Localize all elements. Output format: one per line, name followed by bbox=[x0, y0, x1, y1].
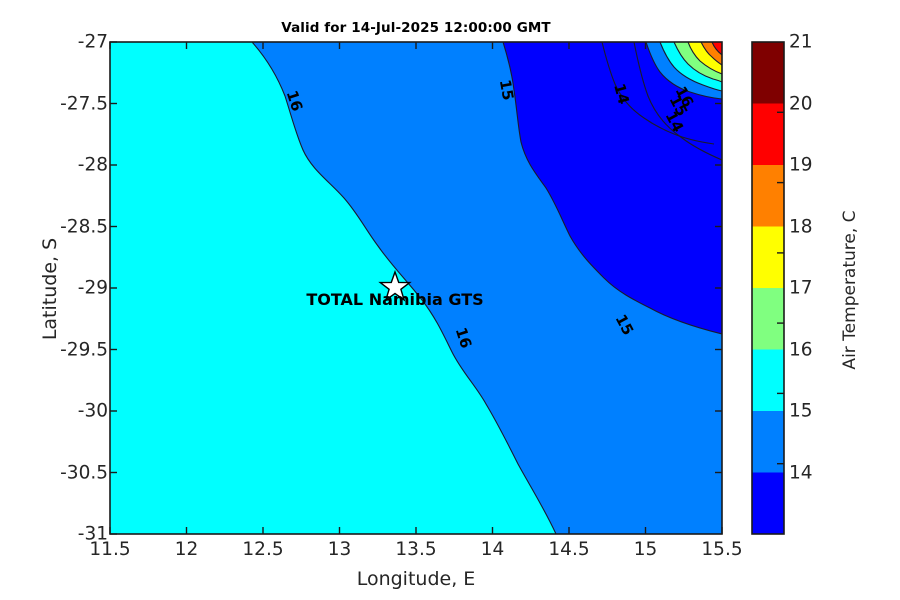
x-tick-label: 14.5 bbox=[548, 539, 589, 560]
x-tick-label: 15.5 bbox=[701, 539, 742, 560]
colorbar-swatch bbox=[752, 42, 784, 104]
y-tick-label: -31 bbox=[78, 524, 108, 545]
colorbar-tick-label: 15 bbox=[789, 401, 813, 422]
contour-fill-group bbox=[110, 42, 722, 534]
colorbar-tick-label: 16 bbox=[789, 339, 813, 360]
station-label: TOTAL Namibia GTS bbox=[306, 290, 483, 309]
colorbar-tick-label: 19 bbox=[789, 155, 813, 176]
y-tick-label: -29 bbox=[78, 278, 108, 299]
colorbar-tick-label: 17 bbox=[789, 278, 813, 299]
y-tick-label: -30 bbox=[78, 401, 108, 422]
x-tick-label: 15 bbox=[634, 539, 658, 560]
colorbar-swatch bbox=[752, 227, 784, 289]
y-tick-label: -28 bbox=[78, 155, 108, 176]
colorbar bbox=[752, 42, 784, 535]
x-tick-label: 13 bbox=[328, 539, 352, 560]
y-tick-label: -29.5 bbox=[60, 339, 108, 360]
y-tick-label: -28.5 bbox=[60, 216, 108, 237]
contour-label: 15 bbox=[496, 78, 517, 102]
x-tick-label: 14 bbox=[481, 539, 505, 560]
y-axis-label: Latitude, S bbox=[39, 149, 61, 429]
colorbar-tick-label: 14 bbox=[789, 462, 813, 483]
x-axis-label: Longitude, E bbox=[110, 568, 722, 590]
colorbar-tick-label: 18 bbox=[789, 216, 813, 237]
colorbar-tick-label: 20 bbox=[789, 93, 813, 114]
colorbar-swatch bbox=[752, 350, 784, 412]
colorbar-label: Air Temperature, C bbox=[840, 140, 860, 440]
temperature-contour-figure: Valid for 14-Jul-2025 12:00:00 GMT bbox=[0, 0, 900, 600]
x-tick-label: 12 bbox=[175, 539, 199, 560]
colorbar-swatch bbox=[752, 165, 784, 227]
y-tick-label: -30.5 bbox=[60, 462, 108, 483]
y-tick-label: -27.5 bbox=[60, 93, 108, 114]
x-tick-label: 13.5 bbox=[395, 539, 436, 560]
colorbar-swatch bbox=[752, 288, 784, 350]
y-tick-label: -27 bbox=[78, 32, 108, 53]
colorbar-tick-label: 21 bbox=[789, 32, 813, 53]
colorbar-swatch bbox=[752, 473, 784, 535]
x-tick-label: 12.5 bbox=[242, 539, 283, 560]
